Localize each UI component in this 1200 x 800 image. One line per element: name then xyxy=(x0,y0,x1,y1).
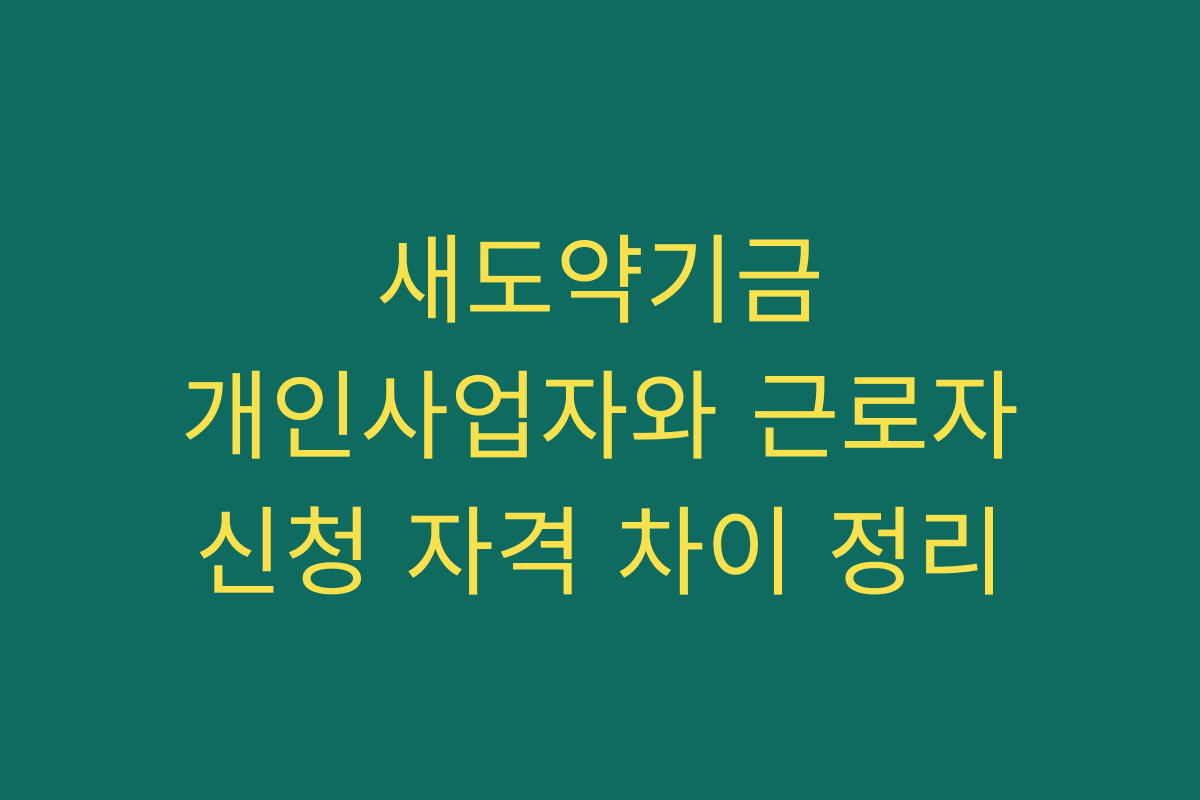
headline-text: 새도약기금 개인사업자와 근로자 신청 자격 차이 정리 xyxy=(100,214,1100,622)
thumbnail-card: 새도약기금 개인사업자와 근로자 신청 자격 차이 정리 xyxy=(0,0,1200,800)
headline-block: 새도약기금 개인사업자와 근로자 신청 자격 차이 정리 xyxy=(100,214,1100,622)
